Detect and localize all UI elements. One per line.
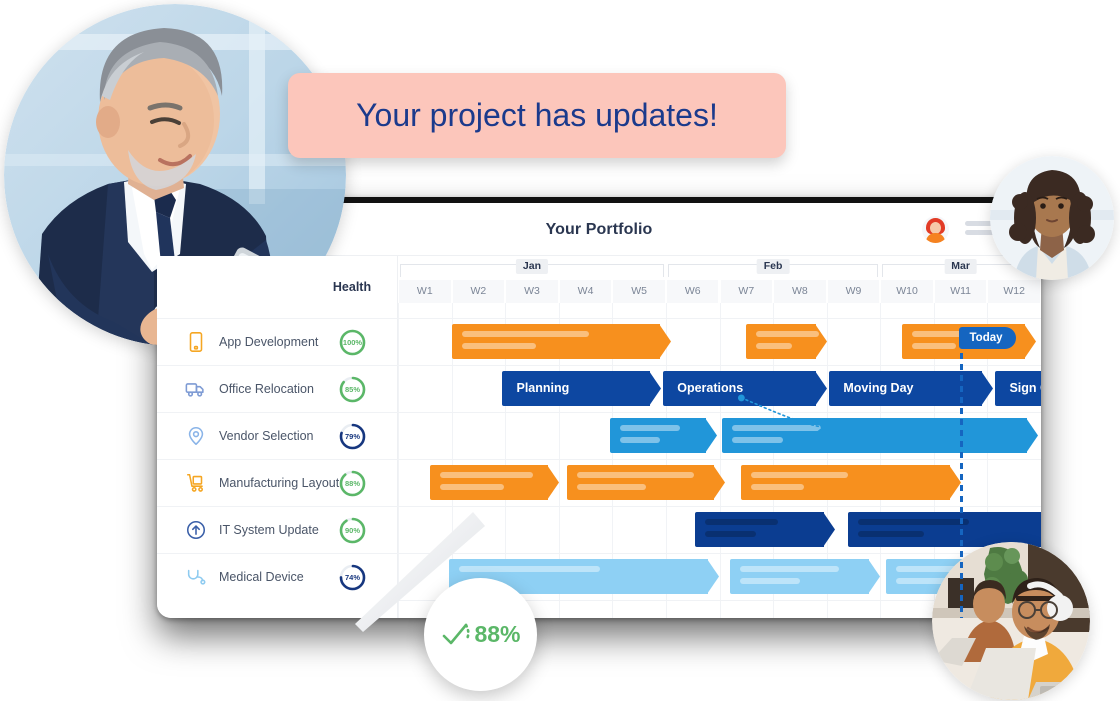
mobile-app-icon	[185, 331, 207, 353]
grid-line-horizontal	[398, 506, 1041, 507]
grid-line-horizontal	[398, 412, 1041, 413]
bar-arrow-tip	[649, 371, 661, 406]
delivery-truck-icon	[185, 378, 207, 400]
today-marker-line: Today	[960, 353, 963, 618]
overall-progress-value: 88%	[474, 621, 520, 648]
timeline-area: JanFebMar W1W2W3W4W5W6W7W8W9W10W11W12 Pl…	[398, 256, 1041, 618]
week-header-W4: W4	[559, 280, 613, 303]
hand-truck-icon	[185, 472, 207, 494]
month-label: Feb	[757, 259, 790, 274]
gantt-bar[interactable]	[746, 324, 826, 359]
week-header-W12: W12	[987, 280, 1041, 303]
week-header-W7: W7	[720, 280, 774, 303]
bar-arrow-tip	[547, 465, 559, 500]
week-header-W9: W9	[827, 280, 881, 303]
week-header-W1: W1	[398, 280, 452, 303]
portfolio-dashboard-panel: Your Portfolio Health App Development 10…	[157, 197, 1041, 618]
week-header-W11: W11	[934, 280, 988, 303]
week-header-W3: W3	[505, 280, 559, 303]
project-name: Vendor Selection	[219, 413, 314, 460]
project-name: Medical Device	[219, 554, 304, 601]
bar-progress-line	[756, 331, 819, 337]
bar-progress-line	[705, 519, 777, 525]
bar-progress-line	[732, 437, 783, 443]
bar-arrow-tip	[981, 371, 993, 406]
bar-progress-line	[440, 484, 504, 490]
bar-progress-line	[620, 425, 680, 431]
bar-arrow-tip	[707, 559, 719, 594]
bar-progress-line	[440, 472, 533, 478]
week-header-W2: W2	[452, 280, 506, 303]
week-header-W10: W10	[880, 280, 934, 303]
photo-woman	[990, 156, 1114, 280]
grid-line-horizontal	[398, 459, 1041, 460]
project-row-4[interactable]: Manufacturing Layout 88%	[157, 459, 398, 506]
health-ring: 85%	[338, 375, 367, 404]
health-ring: 79%	[338, 422, 367, 451]
health-value: 79%	[338, 422, 367, 451]
bar-progress-line	[732, 425, 821, 431]
grid-line-horizontal	[398, 318, 1041, 319]
bar-label: Sign Off	[1009, 371, 1041, 406]
bar-label: Planning	[516, 371, 569, 406]
bar-progress-line	[705, 531, 755, 537]
stethoscope-icon	[185, 566, 207, 588]
bar-arrow-tip	[705, 418, 717, 453]
bar-progress-line	[858, 519, 969, 525]
grid-line-horizontal	[398, 365, 1041, 366]
bar-progress-line	[462, 331, 589, 337]
upload-circle-icon	[185, 519, 207, 541]
bar-progress-line	[577, 484, 647, 490]
photo-team-working	[932, 542, 1090, 700]
bar-arrow-tip	[713, 465, 725, 500]
health-ring: 88%	[338, 469, 367, 498]
hero-illustration: Your Portfolio Health App Development 10…	[0, 0, 1120, 701]
gantt-bar[interactable]	[567, 465, 725, 500]
bar-progress-line	[756, 343, 792, 349]
health-ring: 100%	[338, 328, 367, 357]
gantt-grid: Health App Development 100%Office Reloca…	[157, 256, 1041, 618]
bar-arrow-tip	[868, 559, 880, 594]
project-row-1[interactable]: App Development 100%	[157, 318, 398, 365]
project-name: IT System Update	[219, 507, 319, 554]
bar-arrow-tip	[1024, 324, 1036, 359]
bar-progress-line	[751, 484, 804, 490]
gantt-bar[interactable]: Planning	[502, 371, 660, 406]
bar-progress-line	[858, 531, 923, 537]
month-label: Mar	[944, 259, 977, 274]
bar-arrow-tip	[815, 324, 827, 359]
column-header-health: Health	[317, 256, 387, 318]
bar-progress-line	[912, 343, 956, 349]
gantt-bar[interactable]	[695, 512, 834, 547]
bar-arrow-tip	[659, 324, 671, 359]
bar-progress-line	[740, 566, 839, 572]
project-name: Manufacturing Layout	[219, 460, 339, 507]
week-header-W8: W8	[773, 280, 827, 303]
notification-banner-text: Your project has updates!	[288, 73, 786, 158]
health-value: 100%	[338, 328, 367, 357]
avatar[interactable]	[922, 216, 949, 243]
today-badge[interactable]: Today	[959, 327, 1016, 349]
gantt-bar[interactable]: Operations	[663, 371, 826, 406]
gantt-bar[interactable]	[741, 465, 961, 500]
gantt-bar[interactable]: Sign Off	[995, 371, 1041, 406]
bar-progress-line	[751, 472, 848, 478]
overall-progress-badge: 88%	[424, 578, 537, 691]
grid-line-horizontal	[398, 553, 1041, 554]
gantt-bar[interactable]	[722, 418, 1038, 453]
bar-progress-line	[577, 472, 694, 478]
bar-label: Moving Day	[843, 371, 913, 406]
health-value: 85%	[338, 375, 367, 404]
gantt-bar[interactable]	[452, 324, 672, 359]
bar-progress-line	[620, 437, 661, 443]
month-label: Jan	[516, 259, 548, 274]
notification-banner: Your project has updates!	[288, 73, 786, 158]
gantt-bar[interactable]	[430, 465, 559, 500]
project-row-2[interactable]: Office Relocation 85%	[157, 365, 398, 412]
bar-progress-line	[740, 578, 800, 584]
gantt-bar[interactable]	[730, 559, 880, 594]
location-pin-icon	[185, 425, 207, 447]
gantt-bar[interactable]: Moving Day	[829, 371, 992, 406]
project-row-3[interactable]: Vendor Selection 79%	[157, 412, 398, 459]
grid-line-vertical	[880, 303, 881, 618]
bar-arrow-tip	[1026, 418, 1038, 453]
bar-arrow-tip	[815, 371, 827, 406]
week-header-W6: W6	[666, 280, 720, 303]
bar-arrow-tip	[823, 512, 835, 547]
week-header-W5: W5	[612, 280, 666, 303]
gantt-bar[interactable]	[610, 418, 717, 453]
bar-label: Operations	[677, 371, 743, 406]
check-mark-icon	[440, 620, 470, 650]
project-name: Office Relocation	[219, 366, 314, 413]
bar-progress-line	[462, 343, 537, 349]
project-name: App Development	[219, 319, 318, 366]
health-value: 88%	[338, 469, 367, 498]
grid-line-vertical	[720, 303, 721, 618]
